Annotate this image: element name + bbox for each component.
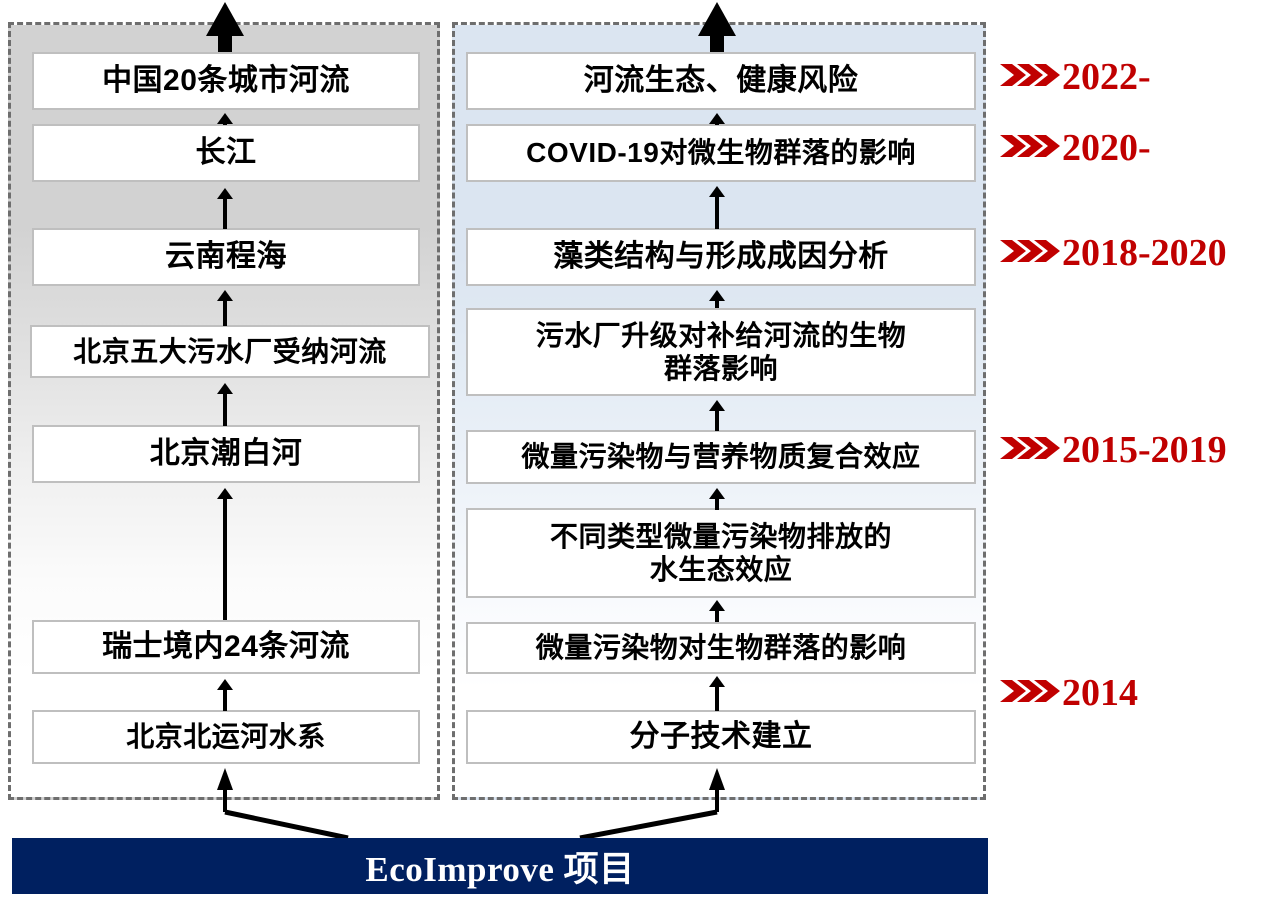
triple-chevron-right-icon — [1000, 238, 1060, 268]
diagram-canvas: 中国20条城市河流 长江 云南程海 北京五大污水厂受纳河流 北京潮白河 瑞士境内… — [0, 0, 1269, 899]
node-china-20-urban-rivers[interactable]: 中国20条城市河流 — [32, 52, 420, 110]
node-switzerland-24-rivers[interactable]: 瑞士境内24条河流 — [32, 620, 420, 674]
banner-to-left-column-connector — [225, 812, 348, 838]
node-covid19-effect-microbial-community[interactable]: COVID-19对微生物群落的影响 — [466, 124, 976, 182]
year-marker-2014[interactable]: 2014 — [1000, 674, 1138, 712]
node-beijing-north-canal-system[interactable]: 北京北运河水系 — [32, 710, 420, 764]
node-yunnan-chenghai[interactable]: 云南程海 — [32, 228, 420, 286]
node-river-ecology-health-risk[interactable]: 河流生态、健康风险 — [466, 52, 976, 110]
year-marker-2015-2019[interactable]: 2015-2019 — [1000, 431, 1227, 469]
triple-chevron-right-icon — [1000, 133, 1060, 163]
year-label: 2018-2020 — [1062, 234, 1227, 272]
node-micropollutants-biotic-community-impact[interactable]: 微量污染物对生物群落的影响 — [466, 622, 976, 674]
node-beijing-chaobai-river[interactable]: 北京潮白河 — [32, 425, 420, 483]
project-banner: EcoImprove 项目 — [12, 838, 988, 894]
triple-chevron-right-icon — [1000, 435, 1060, 465]
year-marker-2020[interactable]: 2020- — [1000, 129, 1151, 167]
node-molecular-technique-establishment[interactable]: 分子技术建立 — [466, 710, 976, 764]
node-wwtp-upgrade-biotic-community-impact[interactable]: 污水厂升级对补给河流的生物 群落影响 — [466, 308, 976, 396]
node-micropollutants-nutrients-combined-effect[interactable]: 微量污染物与营养物质复合效应 — [466, 430, 976, 484]
node-micropollutant-types-aquatic-eco-effect[interactable]: 不同类型微量污染物排放的 水生态效应 — [466, 508, 976, 598]
year-label: 2014 — [1062, 674, 1138, 712]
node-beijing-five-wwtp-receiving-rivers[interactable]: 北京五大污水厂受纳河流 — [30, 325, 430, 378]
year-label: 2020- — [1062, 129, 1151, 167]
year-label: 2015-2019 — [1062, 431, 1227, 469]
triple-chevron-right-icon — [1000, 678, 1060, 708]
node-algae-structure-formation-analysis[interactable]: 藻类结构与形成成因分析 — [466, 228, 976, 286]
year-marker-2018-2020[interactable]: 2018-2020 — [1000, 234, 1227, 272]
node-yangtze-river[interactable]: 长江 — [32, 124, 420, 182]
year-label: 2022- — [1062, 58, 1151, 96]
triple-chevron-right-icon — [1000, 62, 1060, 92]
year-marker-2022[interactable]: 2022- — [1000, 58, 1151, 96]
banner-to-right-column-connector — [580, 812, 717, 838]
